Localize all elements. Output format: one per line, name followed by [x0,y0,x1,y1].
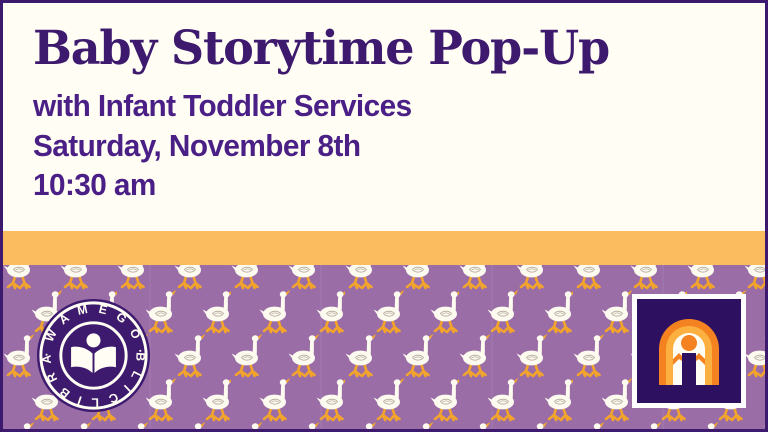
orange-divider-band [3,231,768,265]
poster-partner-line: with Infant Toddler Services [33,86,741,126]
arch-person-head-icon [681,335,697,351]
page-title: Baby Storytime Pop-Up [33,25,756,74]
seal-reader-head-icon [86,333,100,347]
poster-date-line: Saturday, November 8th [33,126,741,166]
arch-logo-inner [637,299,741,403]
poster-text-panel: Baby Storytime Pop-Up with Infant Toddle… [3,3,768,231]
library-seal: · W A M E G O · P U B L I C L I B R A R … [35,297,152,414]
infant-toddler-services-logo [632,294,746,408]
event-poster: Baby Storytime Pop-Up with Infant Toddle… [0,0,768,432]
arch-person-body-icon [682,353,696,385]
poster-time-line: 10:30 am [33,165,741,205]
